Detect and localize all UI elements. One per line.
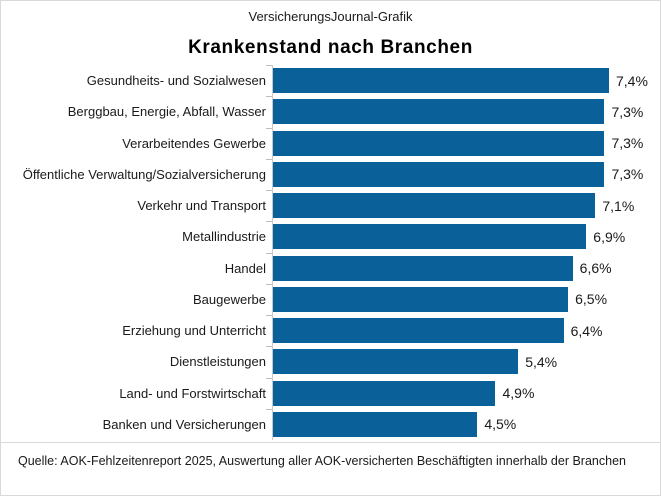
bar-container: 6,4% bbox=[273, 318, 564, 343]
bar[interactable] bbox=[273, 193, 595, 218]
bar-row: Erziehung und Unterricht6,4% bbox=[1, 315, 661, 346]
bar-row: Dienstleistungen5,4% bbox=[1, 346, 661, 377]
bar-value-label: 6,4% bbox=[564, 323, 603, 339]
category-label: Öffentliche Verwaltung/Sozialversicherun… bbox=[5, 167, 273, 182]
category-label: Berggbau, Energie, Abfall, Wasser bbox=[5, 104, 273, 119]
axis-tick bbox=[266, 284, 272, 285]
bar-container: 7,3% bbox=[273, 131, 604, 156]
bar-row: Handel6,6% bbox=[1, 253, 661, 284]
page-title: Krankenstand nach Branchen bbox=[1, 37, 660, 59]
axis-tick bbox=[266, 221, 272, 222]
bar[interactable] bbox=[273, 381, 495, 406]
bar-container: 7,3% bbox=[273, 99, 604, 124]
bar[interactable] bbox=[273, 349, 518, 374]
bar[interactable] bbox=[273, 256, 573, 281]
bar-container: 4,9% bbox=[273, 381, 495, 406]
axis-tick bbox=[266, 128, 272, 129]
category-label: Metallindustrie bbox=[5, 229, 273, 244]
bar[interactable] bbox=[273, 287, 568, 312]
bar-row: Banken und Versicherungen4,5% bbox=[1, 409, 661, 440]
source-divider bbox=[1, 442, 661, 443]
axis-tick bbox=[266, 65, 272, 66]
category-label: Verkehr und Transport bbox=[5, 198, 273, 213]
bar-value-label: 4,9% bbox=[495, 385, 534, 401]
bar-value-label: 7,3% bbox=[604, 166, 643, 182]
bar-container: 7,4% bbox=[273, 68, 609, 93]
axis-tick bbox=[266, 190, 272, 191]
bar-row: Gesundheits- und Sozialwesen7,4% bbox=[1, 65, 661, 96]
bar-row: Metallindustrie6,9% bbox=[1, 221, 661, 252]
bar-value-label: 7,3% bbox=[604, 104, 643, 120]
chart-page: VersicherungsJournal-Grafik Krankenstand… bbox=[0, 0, 661, 496]
bar-row: Berggbau, Energie, Abfall, Wasser7,3% bbox=[1, 96, 661, 127]
bar-value-label: 7,3% bbox=[604, 135, 643, 151]
bar-row: Verkehr und Transport7,1% bbox=[1, 190, 661, 221]
bar-container: 5,4% bbox=[273, 349, 518, 374]
bar[interactable] bbox=[273, 318, 564, 343]
bar-row: Verarbeitendes Gewerbe7,3% bbox=[1, 128, 661, 159]
category-label: Erziehung und Unterricht bbox=[5, 323, 273, 338]
bar[interactable] bbox=[273, 68, 609, 93]
category-label: Land- und Forstwirtschaft bbox=[5, 386, 273, 401]
bar-rows: Gesundheits- und Sozialwesen7,4%Berggbau… bbox=[1, 65, 661, 440]
bar-value-label: 5,4% bbox=[518, 354, 557, 370]
bar-container: 4,5% bbox=[273, 412, 477, 437]
category-label: Dienstleistungen bbox=[5, 354, 273, 369]
bar-value-label: 6,9% bbox=[586, 229, 625, 245]
axis-tick bbox=[266, 253, 272, 254]
category-label: Baugewerbe bbox=[5, 292, 273, 307]
category-label: Handel bbox=[5, 261, 273, 276]
axis-tick bbox=[266, 315, 272, 316]
axis-tick bbox=[266, 378, 272, 379]
axis-tick bbox=[266, 159, 272, 160]
bar[interactable] bbox=[273, 162, 604, 187]
bar-container: 6,9% bbox=[273, 224, 586, 249]
chart-kicker: VersicherungsJournal-Grafik bbox=[1, 9, 660, 24]
bar[interactable] bbox=[273, 412, 477, 437]
bar-container: 7,1% bbox=[273, 193, 595, 218]
category-label: Banken und Versicherungen bbox=[5, 417, 273, 432]
bar-value-label: 6,5% bbox=[568, 291, 607, 307]
bar-container: 7,3% bbox=[273, 162, 604, 187]
axis-tick bbox=[266, 96, 272, 97]
bar-row: Land- und Forstwirtschaft4,9% bbox=[1, 378, 661, 409]
bar-chart-plot-area: Gesundheits- und Sozialwesen7,4%Berggbau… bbox=[1, 65, 661, 440]
bar[interactable] bbox=[273, 131, 604, 156]
bar[interactable] bbox=[273, 99, 604, 124]
bar-value-label: 7,4% bbox=[609, 73, 648, 89]
bar-row: Baugewerbe6,5% bbox=[1, 284, 661, 315]
bar-value-label: 4,5% bbox=[477, 416, 516, 432]
bar-container: 6,5% bbox=[273, 287, 568, 312]
bar-value-label: 7,1% bbox=[595, 198, 634, 214]
category-label: Verarbeitendes Gewerbe bbox=[5, 136, 273, 151]
bar-container: 6,6% bbox=[273, 256, 573, 281]
bar-value-label: 6,6% bbox=[573, 260, 612, 276]
bar-row: Öffentliche Verwaltung/Sozialversicherun… bbox=[1, 159, 661, 190]
category-label: Gesundheits- und Sozialwesen bbox=[5, 73, 273, 88]
source-note: Quelle: AOK-Fehlzeitenreport 2025, Auswe… bbox=[18, 453, 638, 470]
axis-tick bbox=[266, 409, 272, 410]
axis-tick bbox=[266, 346, 272, 347]
bar[interactable] bbox=[273, 224, 586, 249]
